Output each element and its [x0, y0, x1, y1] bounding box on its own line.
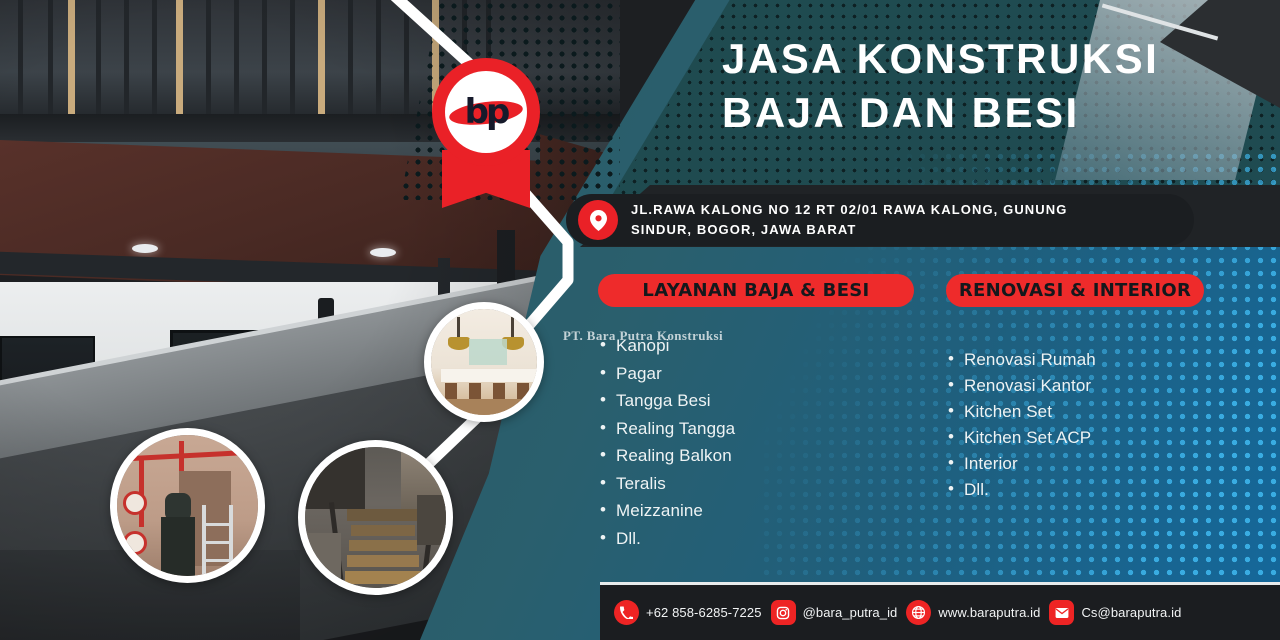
service-list-renovation: Renovasi Rumah Renovasi Kantor Kitchen S…	[946, 351, 1208, 498]
service-column-renovation: RENOVASI & INTERIOR Renovasi Rumah Renov…	[946, 274, 1208, 507]
instagram-icon	[771, 600, 796, 625]
contact-email[interactable]: Cs@baraputra.id	[1049, 600, 1181, 625]
service-heading-renovation: RENOVASI & INTERIOR	[946, 274, 1204, 307]
list-item: Interior	[946, 455, 1208, 472]
service-list-steel: Kanopi Pagar Tangga Besi Realing Tangga …	[598, 337, 918, 547]
worker-on-ladder-photo	[110, 428, 265, 583]
address-line-1: JL.RAWA KALONG NO 12 RT 02/01 RAWA KALON…	[631, 200, 1067, 220]
service-heading-steel: LAYANAN BAJA & BESI	[598, 274, 914, 307]
headline-line-2: BAJA DAN BESI	[722, 86, 1242, 140]
address-line-2: SINDUR, BOGOR, JAWA BARAT	[631, 220, 1067, 240]
list-item: Renovasi Kantor	[946, 377, 1208, 394]
company-logo-badge: bp	[420, 58, 552, 208]
contact-phone[interactable]: +62 858-6285-7225	[614, 600, 762, 625]
list-item: Tangga Besi	[598, 392, 918, 409]
logo-monogram: bp	[465, 95, 508, 129]
contact-instagram[interactable]: @bara_putra_id	[771, 600, 898, 625]
address-text: JL.RAWA KALONG NO 12 RT 02/01 RAWA KALON…	[631, 200, 1067, 240]
list-item: Renovasi Rumah	[946, 351, 1208, 368]
contact-footer-bar: +62 858-6285-7225 @bara_putra_id	[600, 585, 1280, 640]
badge-rosette-icon: bp	[432, 58, 540, 166]
contact-website[interactable]: www.baraputra.id	[906, 600, 1040, 625]
location-pin-icon	[578, 200, 618, 240]
page-title: JASA KONSTRUKSI BAJA DAN BESI	[722, 32, 1242, 140]
email-icon	[1049, 600, 1074, 625]
contact-phone-text: +62 858-6285-7225	[646, 605, 762, 620]
phone-icon	[614, 600, 639, 625]
address-bar: JL.RAWA KALONG NO 12 RT 02/01 RAWA KALON…	[566, 194, 1194, 246]
headline-line-1: JASA KONSTRUKSI	[722, 32, 1242, 86]
list-item: Kitchen Set ACP	[946, 429, 1208, 446]
list-item: Teralis	[598, 475, 918, 492]
construction-service-banner: bp JASA KONSTRUKSI BAJA DAN BESI JL.RAWA…	[0, 0, 1280, 640]
list-item: Dll.	[946, 481, 1208, 498]
globe-icon	[906, 600, 931, 625]
list-item: Dll.	[598, 530, 918, 547]
kitchen-interior-photo	[424, 302, 544, 422]
contact-email-text: Cs@baraputra.id	[1081, 605, 1181, 620]
list-item: Realing Balkon	[598, 447, 918, 464]
contact-instagram-text: @bara_putra_id	[803, 605, 898, 620]
list-item: Kitchen Set	[946, 403, 1208, 420]
service-column-steel: LAYANAN BAJA & BESI Kanopi Pagar Tangga …	[598, 274, 918, 557]
list-item: Pagar	[598, 365, 918, 382]
contact-website-text: www.baraputra.id	[938, 605, 1040, 620]
company-watermark: PT. Bara Putra Konstruksi	[563, 328, 723, 344]
steel-wood-staircase-photo	[298, 440, 453, 595]
list-item: Meizzanine	[598, 502, 918, 519]
list-item: Realing Tangga	[598, 420, 918, 437]
